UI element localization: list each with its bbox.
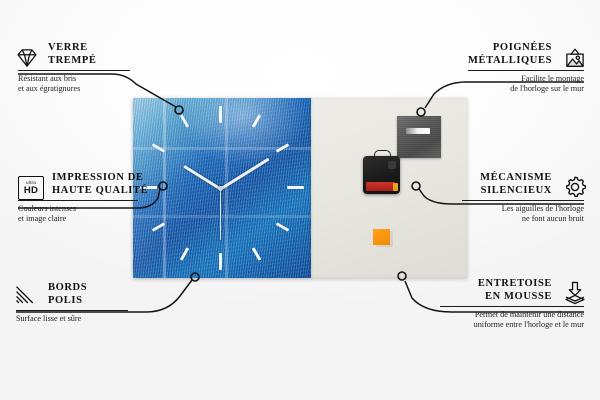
gear-icon	[562, 174, 588, 200]
product-image	[133, 98, 467, 278]
callout-desc: Couleurs intenses et image claire	[18, 204, 138, 224]
callout-impression-haute-qualite: ultra HD IMPRESSION DE HAUTE QUALITÉ Cou…	[18, 172, 138, 224]
callout-desc: Résistant aux bris et aux égratignures	[18, 74, 130, 94]
ultra-hd-icon-main-text: HD	[24, 186, 38, 196]
callout-poignees-metalliques: POIGNÉES MÉTALLIQUES Facilite le montage…	[468, 42, 584, 94]
clock-mechanism	[363, 156, 400, 194]
bracket-slot	[406, 128, 430, 134]
clock-hand-minute	[220, 158, 270, 190]
callout-title-line: EN MOUSSE	[440, 291, 552, 304]
callout-title-line: HAUTE QUALITÉ	[52, 185, 138, 198]
clock-back-panel	[311, 98, 467, 278]
metal-hanging-bracket	[397, 116, 441, 158]
clock-hand-second	[220, 188, 221, 240]
clock-tick	[180, 247, 190, 261]
battery-plus-terminal	[393, 183, 398, 191]
clock-tick	[287, 186, 304, 189]
callout-bords-polis: BORDS POLIS Surface lisse et sûre	[16, 282, 128, 324]
arrow-onto-layers-icon	[562, 280, 588, 306]
callout-title-line: POLIS	[48, 295, 128, 308]
polished-edge-icon	[12, 283, 38, 309]
callout-desc: Les aiguilles de l'horloge ne font aucun…	[462, 204, 584, 224]
callout-verre-trempe: VERRE TREMPÉ Résistant aux bris et aux é…	[18, 42, 130, 94]
callout-rule	[462, 200, 584, 201]
infographic-canvas: VERRE TREMPÉ Résistant aux bris et aux é…	[0, 0, 600, 400]
mechanism-hanger	[374, 150, 391, 160]
clock-tick	[152, 143, 166, 153]
clock-tick	[219, 253, 222, 270]
callout-title-line: MÉCANISME	[462, 172, 552, 185]
clock-tick	[276, 222, 290, 232]
clock-tick	[252, 247, 262, 261]
callout-title-line: VERRE	[48, 42, 130, 55]
callout-title-line: TREMPÉ	[48, 55, 130, 68]
ultra-hd-icon: ultra HD	[18, 176, 44, 202]
callout-title-line: BORDS	[48, 282, 128, 295]
callout-rule	[440, 306, 584, 307]
callout-mecanisme-silencieux: MÉCANISME SILENCIEUX Les aiguilles de l'…	[462, 172, 584, 224]
battery	[366, 182, 395, 191]
callout-desc: Permet de maintenir une distance uniform…	[440, 310, 584, 330]
clock-hub	[218, 186, 223, 191]
clock-hand-hour	[183, 165, 221, 190]
callout-title-line: SILENCIEUX	[462, 185, 552, 198]
glass-glare	[133, 98, 311, 278]
callout-entretoise-en-mousse: ENTRETOISE EN MOUSSE Permet de maintenir…	[440, 278, 584, 330]
clock-tick	[152, 222, 166, 232]
clock-tick	[219, 106, 222, 123]
callout-title-line: ENTRETOISE	[440, 278, 552, 291]
clock-face	[133, 98, 311, 278]
foam-spacer	[373, 229, 390, 245]
callout-title-line: MÉTALLIQUES	[468, 55, 552, 68]
clock-tick	[180, 114, 190, 128]
mechanism-knob	[388, 161, 396, 169]
callout-desc: Surface lisse et sûre	[16, 314, 128, 324]
clock-tick	[276, 143, 290, 153]
callout-title-line: IMPRESSION DE	[52, 172, 138, 185]
hanging-frame-icon	[562, 46, 588, 72]
callout-rule	[16, 310, 128, 311]
callout-desc: Facilite le montage de l'horloge sur le …	[468, 74, 584, 94]
clock-tick	[252, 114, 262, 128]
callout-title-line: POIGNÉES	[468, 42, 552, 55]
diamond-icon	[14, 45, 40, 71]
